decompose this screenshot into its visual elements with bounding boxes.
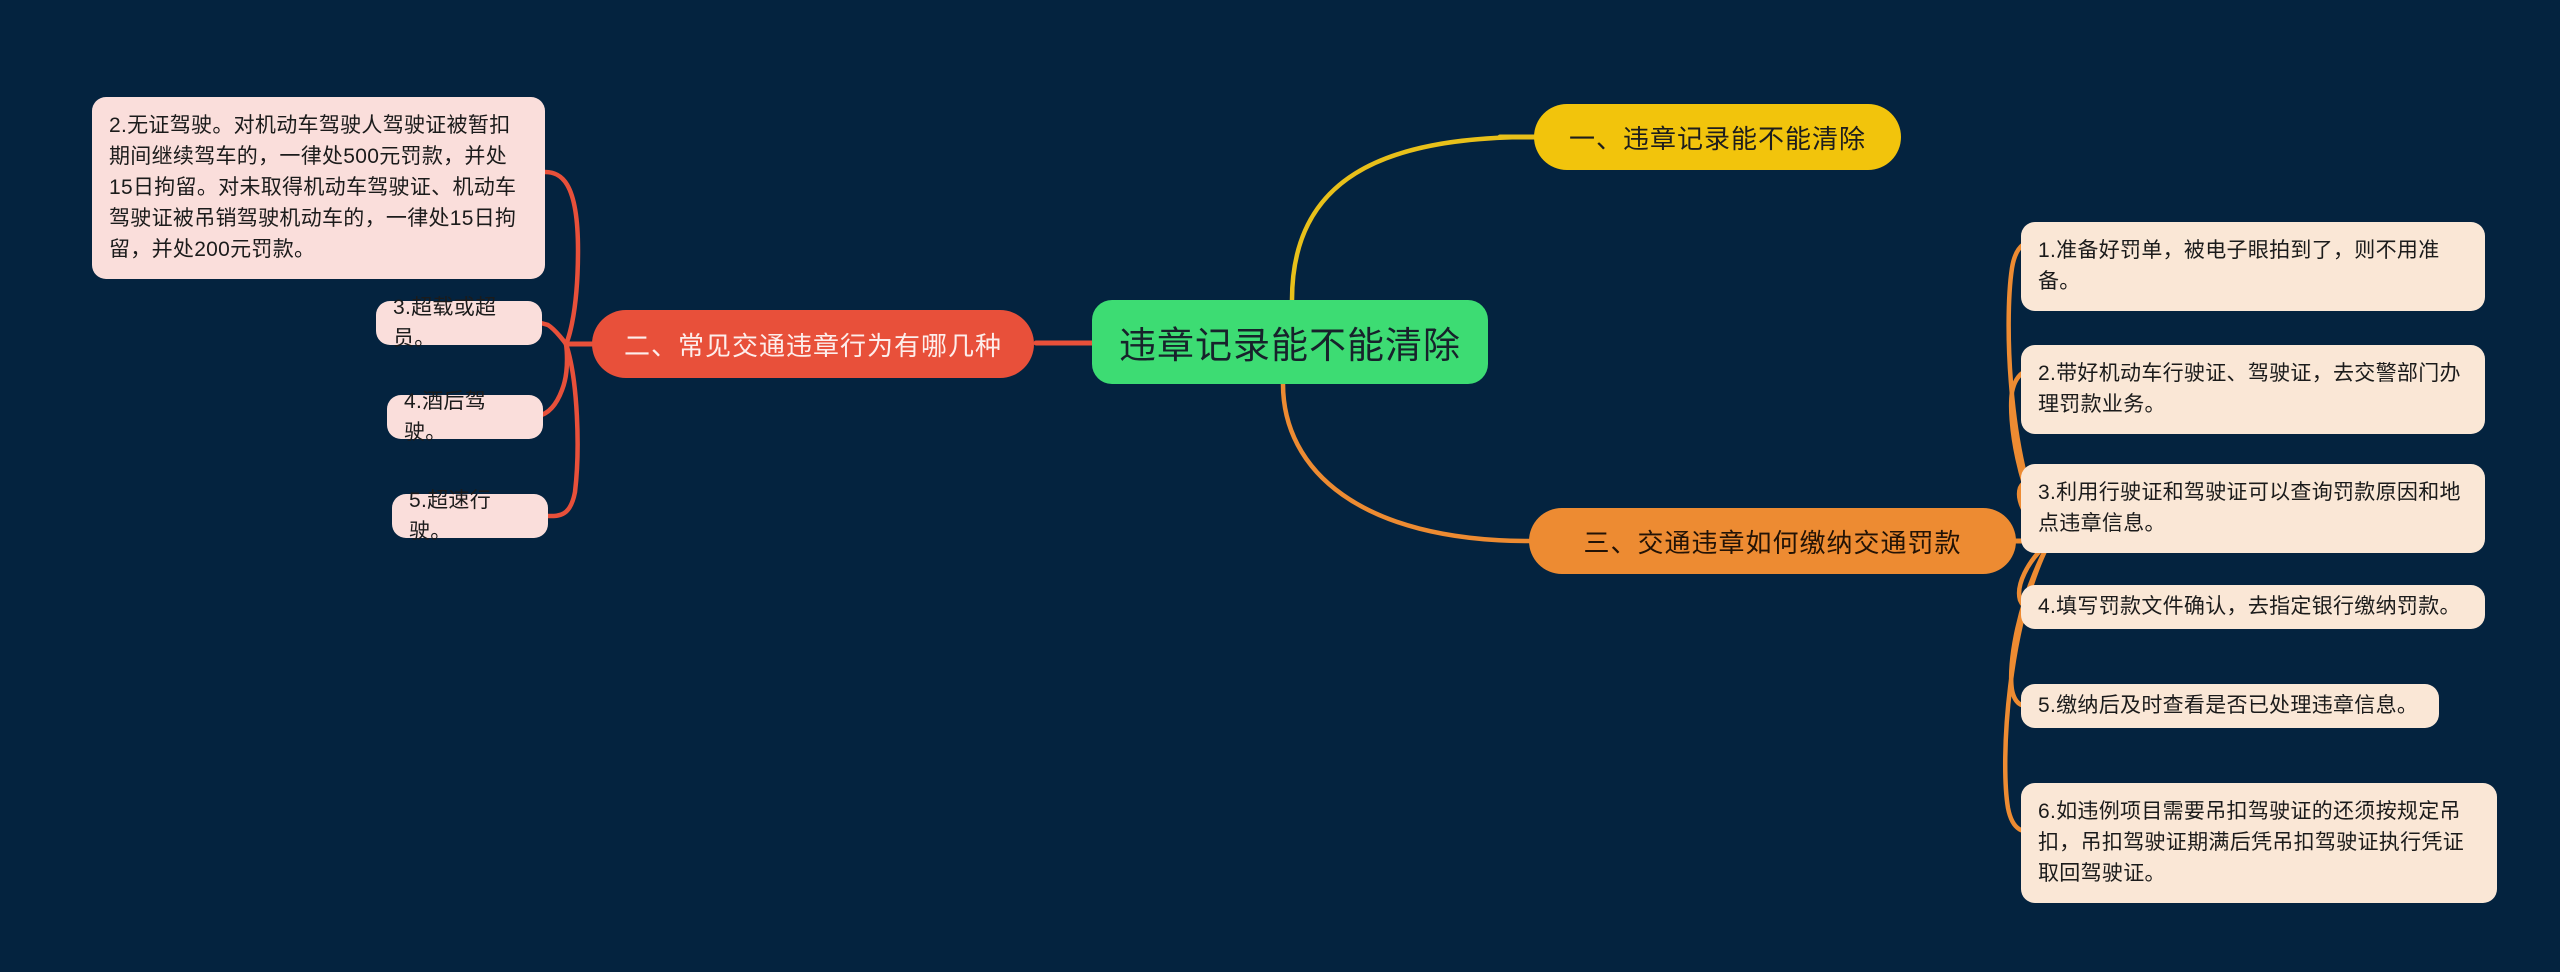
leaf-card-text: 5.超速行驶。 bbox=[409, 485, 531, 547]
leaf-card-text: 3.利用行驶证和驾驶证可以查询罚款原因和地点违章信息。 bbox=[2038, 481, 2461, 535]
branch-node-2[interactable]: 二、常见交通违章行为有哪几种 bbox=[592, 310, 1034, 378]
leaf-card-text: 5.缴纳后及时查看是否已处理违章信息。 bbox=[2038, 690, 2418, 721]
leaf-card-text: 2.无证驾驶。对机动车驾驶人驾驶证被暂扣期间继续驾车的，一律处500元罚款，并处… bbox=[109, 114, 516, 261]
leaf-card[interactable]: 2.带好机动车行驶证、驾驶证，去交警部门办理罚款业务。 bbox=[2021, 345, 2485, 434]
connector-branch-2-child-1 bbox=[545, 172, 578, 344]
leaf-card-text: 2.带好机动车行驶证、驾驶证，去交警部门办理罚款业务。 bbox=[2038, 362, 2461, 416]
root-node[interactable]: 违章记录能不能清除 bbox=[1092, 300, 1488, 384]
leaf-card[interactable]: 1.准备好罚单，被电子眼拍到了，则不用准备。 bbox=[2021, 222, 2485, 311]
leaf-card-text: 3.超载或超员。 bbox=[393, 292, 525, 354]
leaf-card-text: 1.准备好罚单，被电子眼拍到了，则不用准备。 bbox=[2038, 239, 2440, 293]
leaf-card[interactable]: 4.酒后驾驶。 bbox=[387, 395, 543, 439]
leaf-card[interactable]: 5.缴纳后及时查看是否已处理违章信息。 bbox=[2021, 684, 2439, 728]
leaf-card[interactable]: 4.填写罚款文件确认，去指定银行缴纳罚款。 bbox=[2021, 585, 2485, 629]
branch-node-1[interactable]: 一、违章记录能不能清除 bbox=[1534, 104, 1901, 170]
connector-root-to-branch-1 bbox=[1292, 137, 1534, 300]
connector-branch-2-child-4 bbox=[546, 344, 578, 516]
branch-node-2-label: 二、常见交通违章行为有哪几种 bbox=[624, 326, 1002, 363]
branch-node-1-label: 一、违章记录能不能清除 bbox=[1569, 119, 1866, 156]
branch-node-3[interactable]: 三、交通违章如何缴纳交通罚款 bbox=[1529, 508, 2016, 574]
leaf-card-text: 4.酒后驾驶。 bbox=[404, 386, 526, 448]
leaf-card[interactable]: 2.无证驾驶。对机动车驾驶人驾驶证被暂扣期间继续驾车的，一律处500元罚款，并处… bbox=[92, 97, 545, 279]
connector-root-to-branch-3 bbox=[1283, 384, 1529, 541]
leaf-card[interactable]: 3.超载或超员。 bbox=[376, 301, 542, 345]
leaf-card[interactable]: 3.利用行驶证和驾驶证可以查询罚款原因和地点违章信息。 bbox=[2021, 464, 2485, 553]
connector-branch-2-child-2 bbox=[541, 323, 566, 344]
mindmap-canvas: 违章记录能不能清除 一、违章记录能不能清除 二、常见交通违章行为有哪几种 三、交… bbox=[0, 0, 2560, 972]
leaf-card[interactable]: 6.如违例项目需要吊扣驾驶证的还须按规定吊扣，吊扣驾驶证期满后凭吊扣驾驶证执行凭… bbox=[2021, 783, 2497, 903]
leaf-card[interactable]: 5.超速行驶。 bbox=[392, 494, 548, 538]
leaf-card-text: 6.如违例项目需要吊扣驾驶证的还须按规定吊扣，吊扣驾驶证期满后凭吊扣驾驶证执行凭… bbox=[2038, 800, 2464, 885]
root-node-label: 违章记录能不能清除 bbox=[1119, 315, 1461, 369]
leaf-card-text: 4.填写罚款文件确认，去指定银行缴纳罚款。 bbox=[2038, 591, 2461, 622]
branch-node-3-label: 三、交通违章如何缴纳交通罚款 bbox=[1583, 523, 1961, 560]
